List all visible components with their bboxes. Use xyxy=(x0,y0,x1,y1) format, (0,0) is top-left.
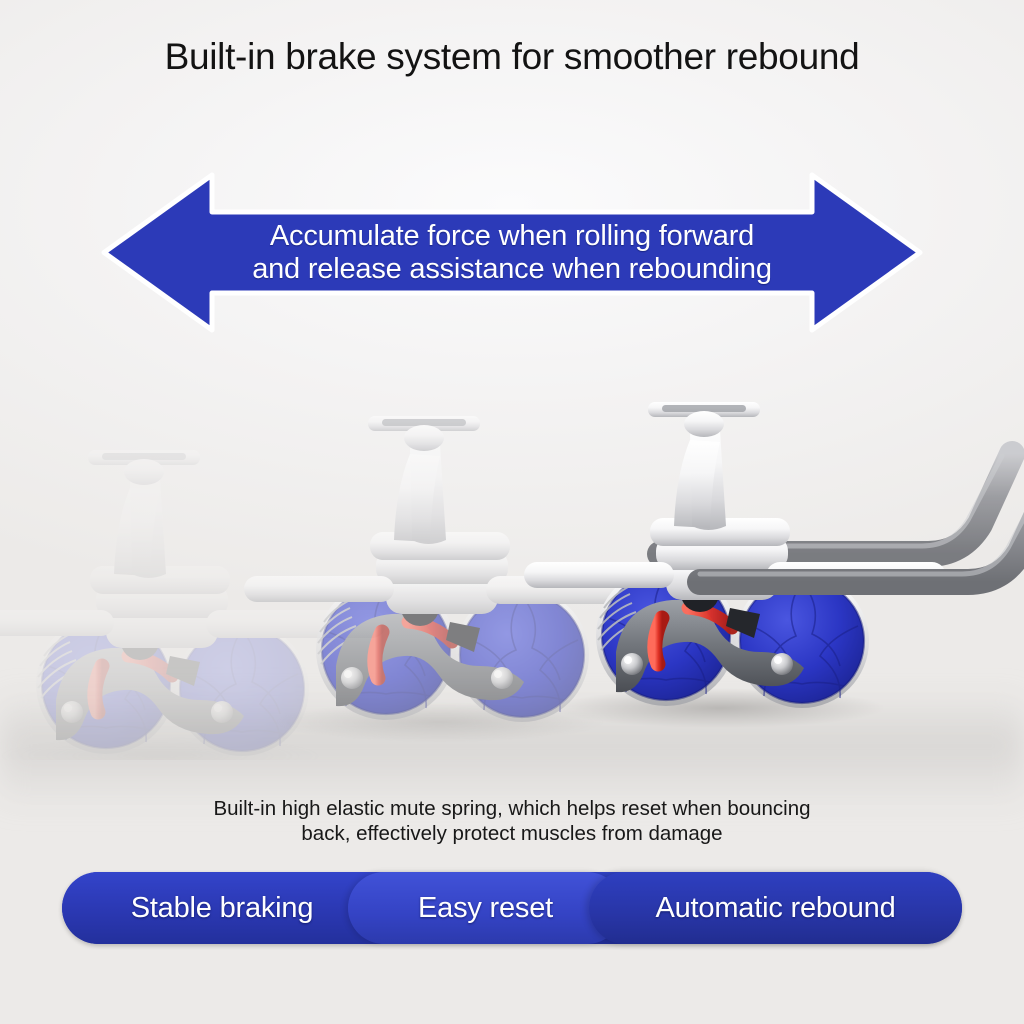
page-title: Built-in brake system for smoother rebou… xyxy=(0,36,1024,78)
feature-pill-label: Stable braking xyxy=(131,892,314,925)
roller-solid xyxy=(524,402,946,728)
feature-pill-automatic-rebound[interactable]: Automatic rebound xyxy=(589,872,962,944)
product-infographic: Built-in brake system for smoother rebou… xyxy=(0,0,1024,1024)
bidirectional-arrow-icon xyxy=(100,170,924,335)
caption-line-1: Built-in high elastic mute spring, which… xyxy=(112,796,912,821)
feature-pill-group: Stable braking Easy reset Automatic rebo… xyxy=(62,872,962,944)
feature-pill-stable-braking[interactable]: Stable braking xyxy=(62,872,382,944)
product-illustration xyxy=(0,380,1024,760)
caption-line-2: back, effectively protect muscles from d… xyxy=(112,821,912,846)
bidirectional-arrow-banner: Accumulate force when rolling forward an… xyxy=(100,170,924,335)
product-caption: Built-in high elastic mute spring, which… xyxy=(112,796,912,846)
ab-roller-sequence xyxy=(0,380,1024,760)
feature-pill-label: Automatic rebound xyxy=(655,892,895,925)
feature-pill-easy-reset[interactable]: Easy reset xyxy=(348,872,623,944)
feature-pill-label: Easy reset xyxy=(418,892,553,925)
